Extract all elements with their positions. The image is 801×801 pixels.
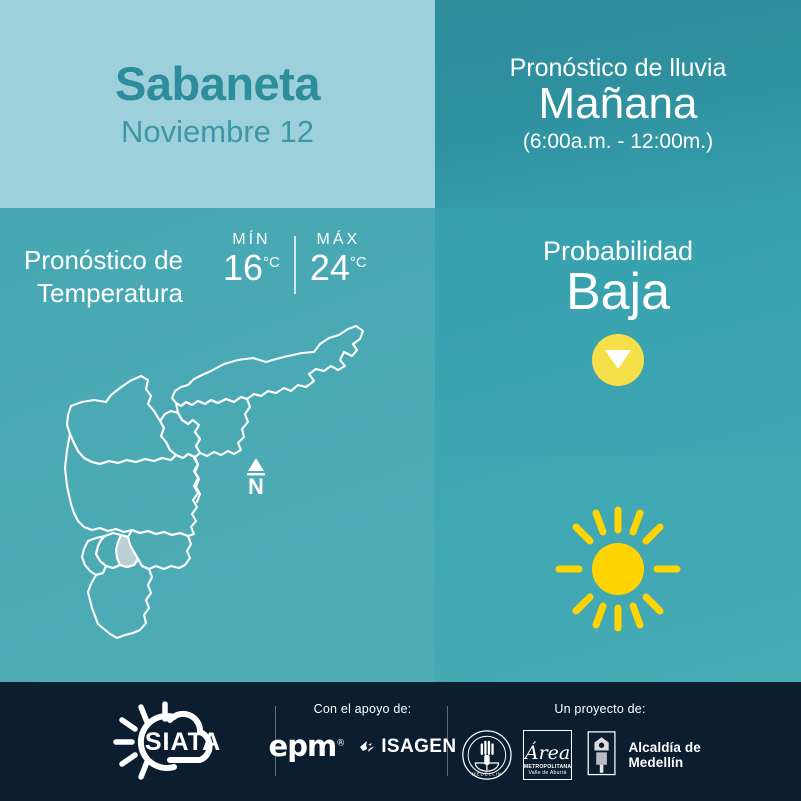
epm-wordmark: epm <box>269 729 337 763</box>
map-municipality-la-estrella <box>82 536 106 575</box>
map-municipality-bello <box>67 376 176 464</box>
map-municipality-caldas <box>88 559 152 638</box>
map-municipality-medellin <box>65 434 198 536</box>
probability-panel: Probabilidad Baja <box>435 208 801 455</box>
amva-script: Área <box>525 744 570 763</box>
rain-forecast-period: Mañana <box>538 81 697 127</box>
udea-seal-text: MEDELLIN <box>472 772 502 777</box>
alcaldia-medellin-logo[interactable]: Alcaldía de Medellín <box>582 726 745 784</box>
map-municipality-copacabana <box>160 411 200 458</box>
temperature-max-value: 24 <box>310 247 350 288</box>
support-section: Con el apoyo de: epm® ISAGEN <box>280 682 445 801</box>
isagen-mark <box>358 737 378 757</box>
temperature-panel: Pronóstico de Temperatura MÍN 16°C MÁX 2… <box>0 208 435 682</box>
north-arrow-label: N <box>248 474 264 499</box>
siata-logo[interactable]: SIATA <box>100 682 275 801</box>
project-logos: MEDELLIN Área METROPOLITANA Valle de Abu… <box>455 726 745 784</box>
rain-forecast-panel: Pronóstico de lluvia Mañana (6:00a.m. - … <box>435 0 801 208</box>
north-arrow-icon: N <box>247 458 265 499</box>
sun-icon <box>543 494 693 644</box>
city-panel: Sabaneta Noviembre 12 <box>0 0 435 208</box>
probability-level: Baja <box>566 265 670 320</box>
rain-forecast-time-range: (6:00a.m. - 12:00m.) <box>523 129 713 154</box>
city-name: Sabaneta <box>115 59 320 108</box>
temperature-min-unit: °C <box>263 254 280 271</box>
footer: SIATA Con el apoyo de: epm® ISAGEN Un p <box>0 682 801 801</box>
temperature-min-value-group: 16°C <box>223 250 280 286</box>
temperature-header: Pronóstico de Temperatura MÍN 16°C MÁX 2… <box>24 230 381 309</box>
isagen-logo[interactable]: ISAGEN <box>358 737 456 757</box>
siata-wordmark: SIATA <box>144 728 220 756</box>
map-municipality-barbosa <box>172 326 363 406</box>
weather-icon-panel <box>435 455 801 682</box>
triangle-down-icon <box>605 350 631 369</box>
weather-forecast-poster: Sabaneta Noviembre 12 Pronóstico de lluv… <box>0 0 801 801</box>
map-municipality-envigado <box>128 530 191 569</box>
project-section: Un proyecto de: MEDELLIN <box>455 682 745 801</box>
project-label: Un proyecto de: <box>455 702 745 716</box>
footer-divider-2 <box>447 706 448 776</box>
temperature-max-unit: °C <box>350 254 367 271</box>
support-label: Con el apoyo de: <box>280 702 445 716</box>
aburra-valley-map: N <box>48 308 398 658</box>
temperature-min-value: 16 <box>223 247 263 288</box>
temperature-values: MÍN 16°C MÁX 24°C <box>209 230 381 294</box>
temperature-title-line1: Pronóstico de <box>24 244 183 277</box>
forecast-date: Noviembre 12 <box>121 115 314 149</box>
udea-seal-logo[interactable]: MEDELLIN <box>461 726 513 784</box>
epm-registered-mark: ® <box>336 738 344 748</box>
temperature-max: MÁX 24°C <box>296 230 381 286</box>
temperature-min: MÍN 16°C <box>209 230 294 286</box>
area-metropolitana-logo[interactable]: Área METROPOLITANA Valle de Aburrá <box>523 730 572 780</box>
temperature-title: Pronóstico de Temperatura <box>24 230 183 309</box>
alcaldia-label: Alcaldía de Medellín <box>628 740 745 770</box>
alcaldia-crest-icon <box>582 726 621 784</box>
amva-line2: Valle de Aburrá <box>529 771 567 777</box>
isagen-wordmark: ISAGEN <box>381 737 456 756</box>
epm-logo[interactable]: epm® <box>269 732 345 761</box>
probability-badge <box>592 334 644 386</box>
map-municipality-girardota <box>176 397 250 456</box>
temperature-title-line2: Temperatura <box>24 277 183 310</box>
support-logos: epm® ISAGEN <box>280 732 445 761</box>
temperature-max-value-group: 24°C <box>310 250 367 286</box>
